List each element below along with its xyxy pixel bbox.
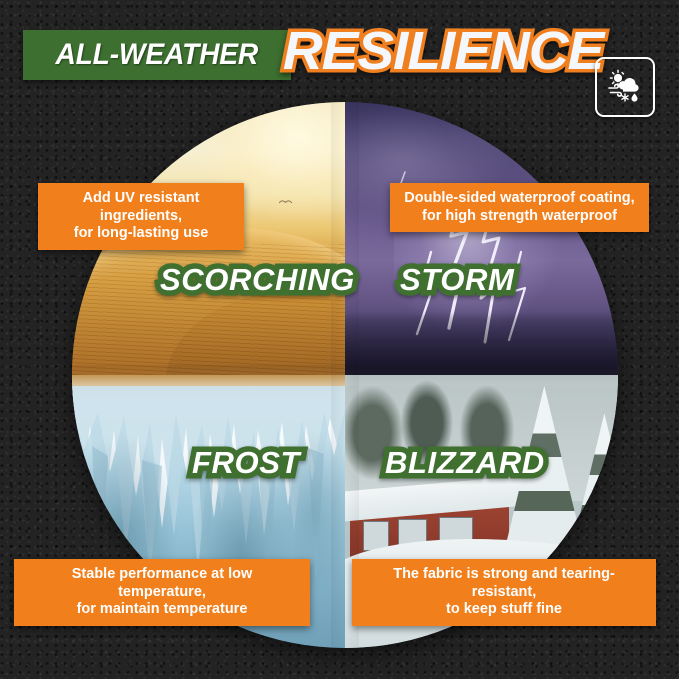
callout-storm: Double-sided waterproof coating, for hig… [390,183,649,232]
header-title-main: RESILIENCE [283,20,603,82]
callout-line: Add UV resistant ingredients, [50,190,232,225]
callout-line: for high strength waterproof [402,208,637,226]
label-blizzard: BLIZZARD [385,445,545,481]
callout-line: Double-sided waterproof coating, [402,190,637,208]
bird-silhouette [279,192,292,198]
callout-line: The fabric is strong and tearing-resista… [364,566,644,601]
quadrant-storm [345,102,618,375]
storm-scene [345,102,618,375]
callout-line: for long-lasting use [50,225,232,243]
callout-line: to keep stuff fine [364,601,644,619]
callout-line: for maintain temperature [26,601,298,619]
storm-horizon [345,315,618,375]
label-storm: STORM [400,262,514,298]
header: ALL-WEATHER RESILIENCE [0,24,679,96]
callout-scorching: Add UV resistant ingredients, for long-l… [38,183,244,250]
callout-frost: Stable performance at low temperature, f… [14,559,310,626]
callout-blizzard: The fabric is strong and tearing-resista… [352,559,656,626]
header-green-bar: ALL-WEATHER [23,30,291,80]
infographic-canvas: ALL-WEATHER RESILIENCE [0,0,679,679]
label-scorching: SCORCHING [160,262,355,298]
label-frost: FROST [192,445,300,481]
header-title-prefix: ALL-WEATHER [56,38,259,72]
callout-line: Stable performance at low temperature, [26,566,298,601]
